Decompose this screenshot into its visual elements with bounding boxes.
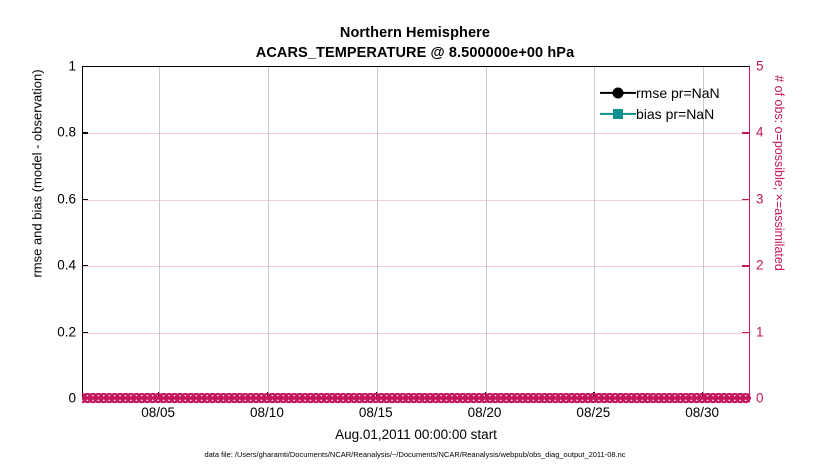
left-axis-tick-label: 0.4 bbox=[57, 258, 76, 273]
right-axis-tick-mark bbox=[742, 199, 749, 200]
x-axis-tick-mark bbox=[702, 392, 703, 398]
right-axis-tick-mark bbox=[742, 132, 749, 133]
x-axis-label: Aug.01,2011 00:00:00 start bbox=[82, 427, 750, 442]
data-file-footer: data file: /Users/gharamti/Documents/NCA… bbox=[0, 450, 830, 459]
left-axis-tick-label: 0.6 bbox=[57, 191, 76, 206]
chart-title: Northern Hemisphere ACARS_TEMPERATURE @ … bbox=[0, 24, 830, 63]
gridline-horizontal bbox=[83, 333, 749, 334]
title-line-2: ACARS_TEMPERATURE @ 8.500000e+00 hPa bbox=[0, 44, 830, 64]
left-axis-tick-mark bbox=[82, 132, 88, 133]
left-axis-tick-mark bbox=[82, 265, 88, 266]
left-axis-tick-label: 0.2 bbox=[57, 324, 76, 339]
gridline-vertical bbox=[594, 67, 595, 397]
right-axis-tick-mark bbox=[742, 265, 749, 266]
left-axis-tick-label: 0 bbox=[68, 391, 76, 406]
x-axis-tick-label: 08/15 bbox=[359, 405, 393, 420]
x-axis-tick-mark bbox=[267, 392, 268, 398]
left-axis-label: rmse and bias (model - observation) bbox=[30, 9, 45, 339]
circle-marker-icon bbox=[600, 84, 636, 102]
x-axis-tick-mark bbox=[593, 392, 594, 398]
gridline-vertical bbox=[377, 67, 378, 397]
gridline-vertical bbox=[268, 67, 269, 397]
x-axis-tick-label: 08/10 bbox=[250, 405, 284, 420]
right-axis-tick-label: 1 bbox=[756, 324, 764, 339]
title-line-1: Northern Hemisphere bbox=[0, 24, 830, 44]
x-axis-tick-mark bbox=[158, 392, 159, 398]
x-axis-tick-label: 08/30 bbox=[685, 405, 719, 420]
left-axis-tick-mark bbox=[82, 199, 88, 200]
gridline-vertical bbox=[159, 67, 160, 397]
right-axis-label: # of obs: o=possible; ×=assimilated bbox=[772, 8, 786, 338]
right-axis-tick-label: 4 bbox=[756, 125, 764, 140]
square-marker-icon bbox=[600, 105, 636, 123]
legend-item-rmse[interactable]: rmse pr=NaN bbox=[600, 82, 750, 103]
legend-label-rmse: rmse pr=NaN bbox=[636, 85, 720, 101]
left-axis-tick-label: 0.8 bbox=[57, 125, 76, 140]
right-axis-tick-label: 3 bbox=[756, 191, 764, 206]
x-axis-tick-label: 08/20 bbox=[468, 405, 502, 420]
left-axis-tick-mark bbox=[82, 332, 88, 333]
x-axis-tick-label: 08/05 bbox=[141, 405, 175, 420]
legend-item-bias[interactable]: bias pr=NaN bbox=[600, 103, 750, 124]
legend-label-bias: bias pr=NaN bbox=[636, 106, 714, 122]
right-axis-tick-label: 0 bbox=[756, 391, 764, 406]
right-axis-tick-label: 2 bbox=[756, 258, 764, 273]
legend: rmse pr=NaN bias pr=NaN bbox=[600, 82, 750, 124]
x-axis-tick-label: 08/25 bbox=[576, 405, 610, 420]
right-axis-tick-label: 5 bbox=[756, 59, 764, 74]
gridline-horizontal bbox=[83, 266, 749, 267]
gridline-vertical bbox=[486, 67, 487, 397]
x-axis-tick-mark bbox=[485, 392, 486, 398]
x-axis-tick-mark bbox=[376, 392, 377, 398]
gridline-horizontal bbox=[83, 200, 749, 201]
left-axis-tick-label: 1 bbox=[68, 59, 76, 74]
right-axis-tick-mark bbox=[742, 332, 749, 333]
gridline-horizontal bbox=[83, 133, 749, 134]
